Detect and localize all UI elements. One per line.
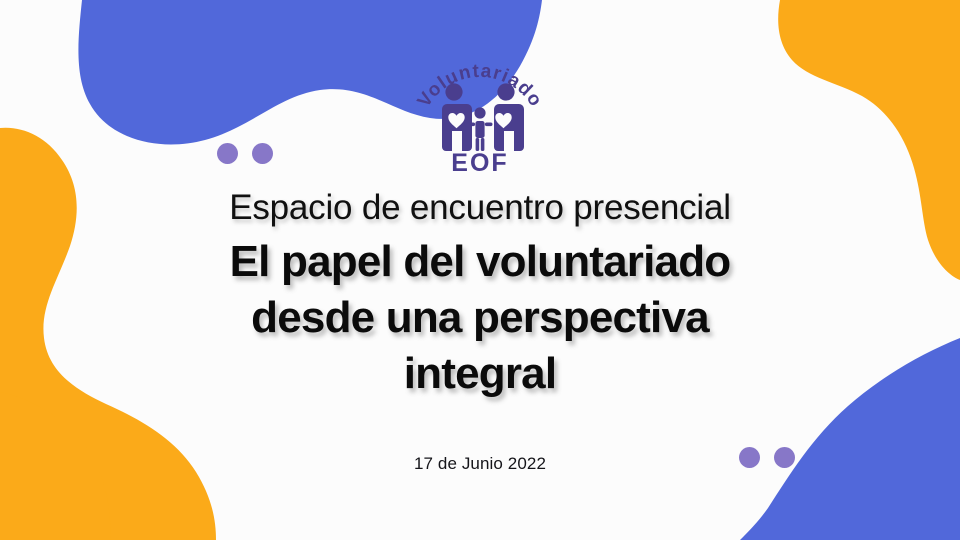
slide-subtitle: Espacio de encuentro presencial: [229, 189, 731, 228]
slide-date: 17 de Junio 2022: [414, 454, 546, 474]
slide-content: Voluntariado: [0, 0, 960, 540]
slide-title: El papel del voluntariado desde una pers…: [230, 234, 731, 403]
logo-acronym: EOF: [451, 149, 508, 173]
title-line-2: desde una perspectiva: [230, 290, 731, 346]
title-line-1: El papel del voluntariado: [230, 234, 731, 290]
logo-arc-text: Voluntariado: [414, 61, 547, 111]
voluntariado-eof-logo: Voluntariado: [405, 58, 555, 173]
volunteer-family-icon: Voluntariado: [405, 58, 555, 173]
presentation-slide: Voluntariado: [0, 0, 960, 540]
title-line-3: integral: [230, 346, 731, 402]
